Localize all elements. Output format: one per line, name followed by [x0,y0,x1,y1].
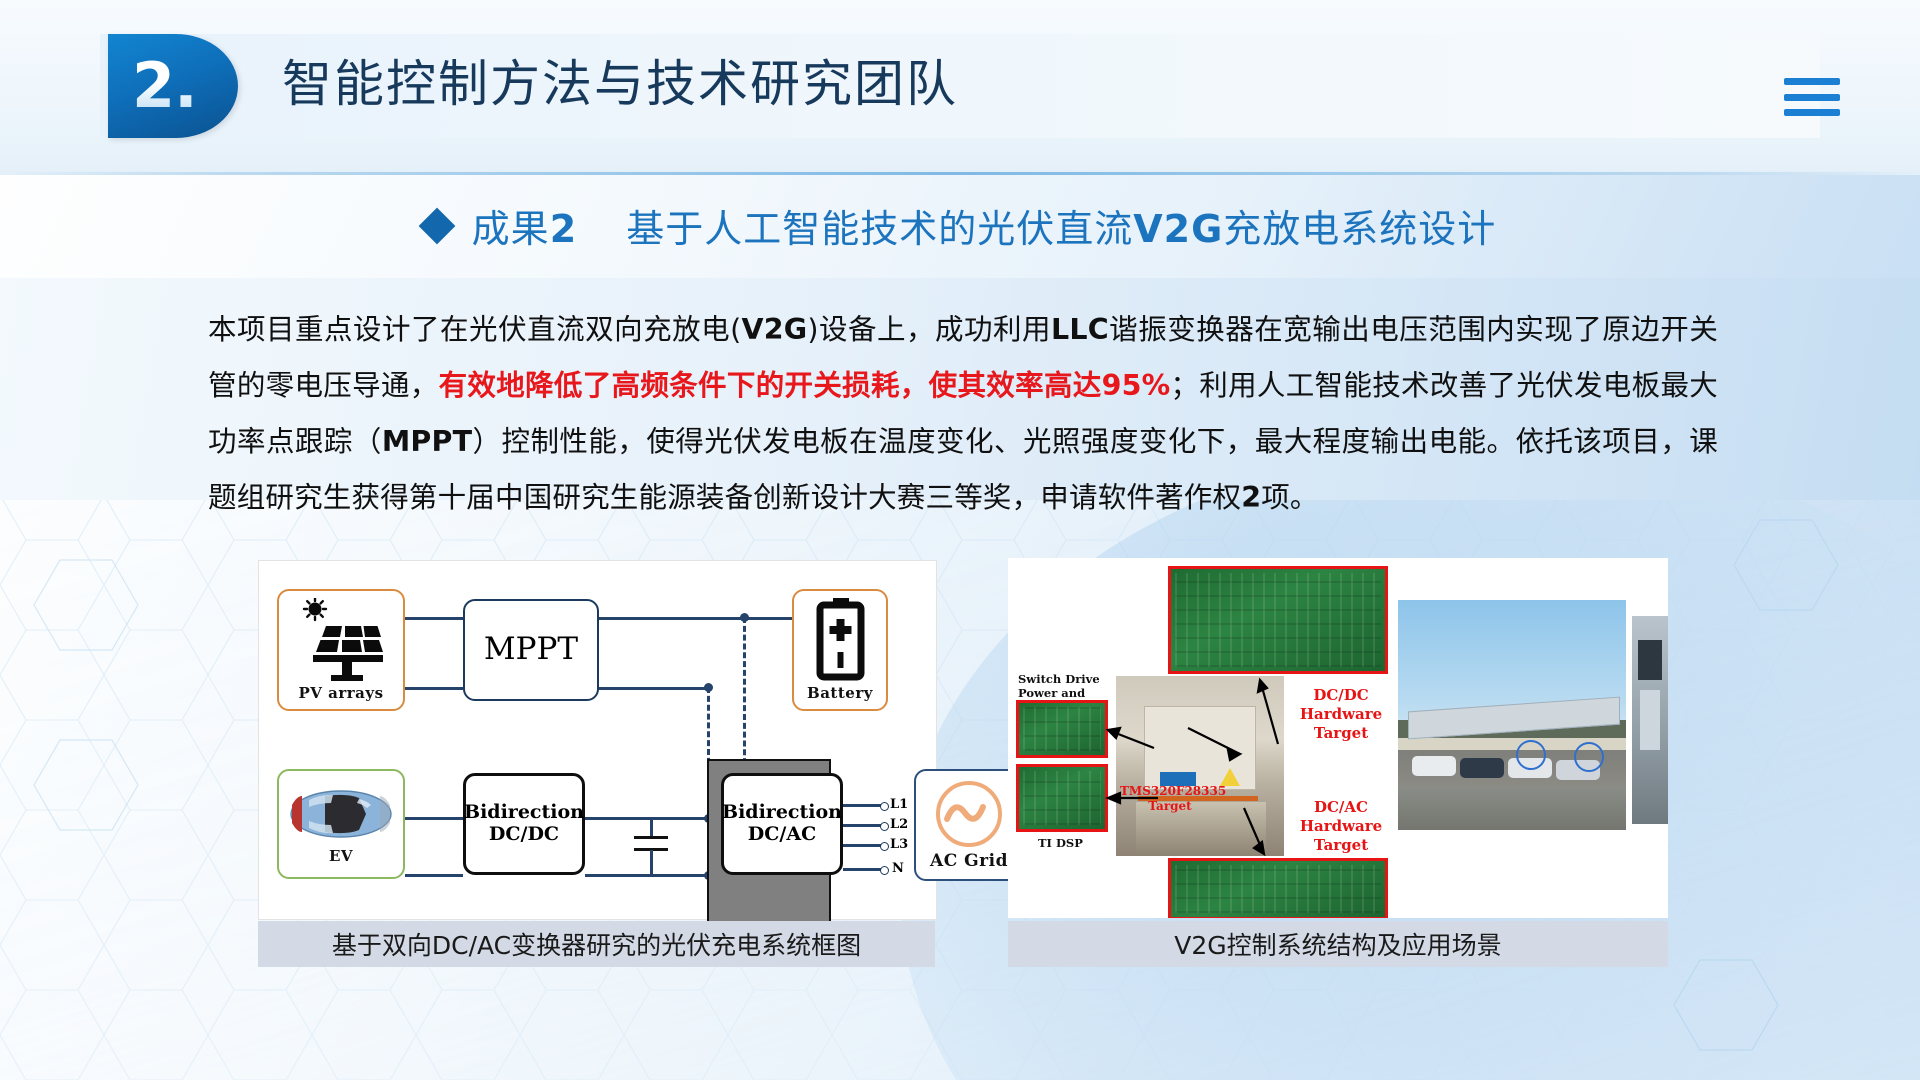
subtitle-text-a: 基于人工智能技术的光伏直流 [626,207,1133,251]
figure-right-photos: Switch Drive Power and Drive Circuit TI … [1008,558,1668,918]
diamond-bullet-icon [418,207,455,244]
ac-grid-label: AC Grid [930,851,1008,871]
figure-left-caption: 基于双向DC/AC变换器研究的光伏充电系统框图 [258,921,935,967]
para-count: 2 [1241,481,1261,514]
bidc-line1: Bidirection [464,802,584,824]
wire-phase-l1 [843,804,881,807]
slide-root: 2. 智能控制方法与技术研究团队 成果2 基于人工智能技术的光伏直流V2G充放电… [0,0,1920,1080]
subtitle-prefix: 成果 [472,207,550,251]
figure-right-caption: V2G控制系统结构及应用场景 [1008,921,1668,967]
battery-icon [815,598,865,682]
para-seg-1: 本项目重点设计了在光伏直流双向充放电( [208,313,741,346]
bidirectional-dcdc-block: Bidirection DC/DC [463,773,585,875]
ev-label: EV [329,847,353,865]
body-paragraph: 本项目重点设计了在光伏直流双向充放电(V2G)设备上，成功利用LLC谐振变换器在… [208,302,1718,526]
battery-label: Battery [807,684,873,702]
header-divider [0,172,1920,175]
terminal-l3 [880,842,889,851]
phase-label-l3: L3 [890,837,908,852]
wire-ev-dcdc-top [405,817,463,820]
page-title: 智能控制方法与技术研究团队 [282,44,958,116]
cap-lead-top [650,817,653,837]
para-v2g: V2G [741,313,807,346]
bus-node-bottom [704,683,713,692]
charging-pile-photo [1632,616,1668,824]
wire-pv-mppt-top [405,617,463,620]
phase-label-l1: L1 [890,797,908,812]
para-seg-6: 项。 [1261,481,1318,514]
ev-node: EV [277,769,405,879]
ac-sine-wave-icon [934,779,1004,849]
electric-car-icon [289,783,393,845]
wire-ev-dcdc-bottom [405,874,463,877]
section-number: 2. [108,55,197,117]
solar-panel-icon [295,598,387,682]
hamburger-bar [1784,109,1840,116]
terminal-l1 [880,802,889,811]
pv-arrays-label: PV arrays [298,684,383,702]
para-seg-2: )设备上，成功利用 [807,313,1051,346]
terminal-l2 [880,822,889,831]
wire-mppt-battery-bottom [599,687,709,690]
bidc-line2: DC/DC [489,824,559,846]
slide-header: 2. 智能控制方法与技术研究团队 [0,0,1920,175]
biac-line2: DC/AC [748,824,816,846]
phase-label-l2: L2 [890,817,908,832]
bus-node-top [740,613,749,622]
phase-label-n: N [892,861,904,876]
pv-arrays-node: PV arrays [277,589,405,711]
mppt-label: MPPT [484,632,578,668]
para-mppt: MPPT [382,425,472,458]
wire-dcdc-bus-bottom [585,874,707,877]
wire-mppt-battery-top [599,617,792,620]
battery-node: Battery [792,589,888,711]
subtitle-emphasis: V2G [1133,207,1223,251]
section-number-badge: 2. [108,34,238,138]
para-llc: LLC [1051,313,1109,346]
hamburger-bar [1784,94,1840,101]
wire-dcdc-bus-top [585,817,707,820]
subtitle-index: 2 [550,207,577,251]
wire-phase-n [843,868,881,871]
hamburger-menu-icon[interactable] [1784,78,1840,116]
wire-phase-l2 [843,824,881,827]
subtitle-row: 成果2 基于人工智能技术的光伏直流V2G充放电系统设计 [0,198,1920,253]
solar-carport-photo [1398,600,1626,830]
hamburger-bar [1784,78,1840,85]
wire-phase-l3 [843,844,881,847]
bidirectional-dcac-block: Bidirection DC/AC [721,773,843,875]
figure-left-schematic: PV arrays MPPT Battery [258,560,937,920]
biac-line1: Bidirection [722,802,842,824]
subtitle-text: 成果2 基于人工智能技术的光伏直流V2G充放电系统设计 [472,198,1497,253]
cap-lead-bottom [650,850,653,875]
mppt-block: MPPT [463,599,599,701]
wire-pv-mppt-bottom [405,687,463,690]
cap-plate-top [634,836,668,839]
para-highlight: 有效地降低了高频条件下的开关损耗，使其效率高达95% [439,369,1171,402]
subtitle-text-b: 充放电系统设计 [1223,207,1496,251]
terminal-n [880,866,889,875]
